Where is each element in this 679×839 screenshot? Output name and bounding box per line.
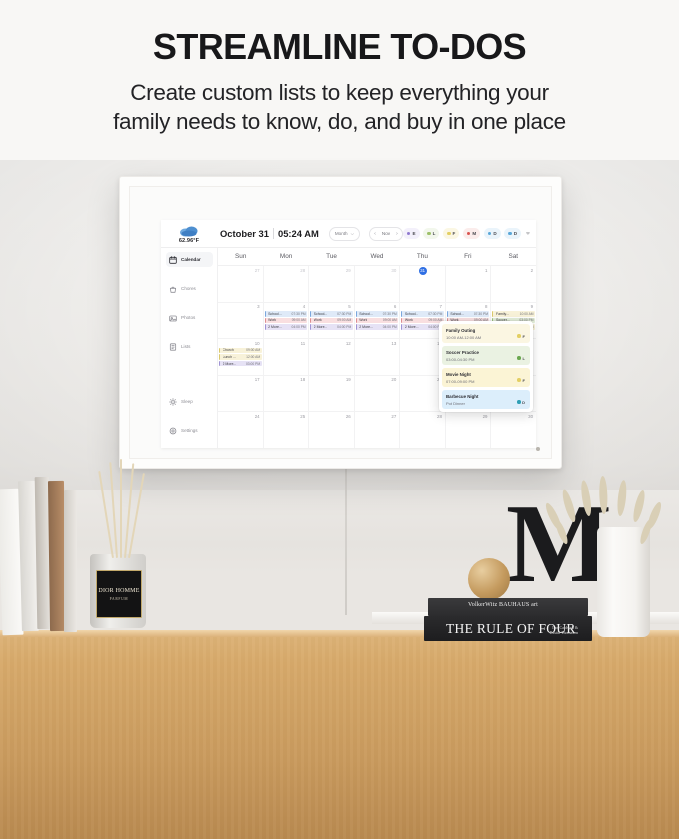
calendar-event[interactable]: School...07:30 PM <box>310 311 353 317</box>
calendar-day-cell[interactable]: 12 <box>309 339 355 375</box>
event-panel-badge: D <box>517 400 525 405</box>
view-selector-dropdown[interactable]: Month ⌵ <box>329 227 360 241</box>
calendar-day-number: 28 <box>300 268 305 273</box>
calendar-day-number: 2 <box>531 268 533 273</box>
calendar-day-cell[interactable]: 27 <box>355 412 401 448</box>
calendar-day-cell[interactable]: 24 <box>218 412 264 448</box>
day-header-tue: Tue <box>309 248 354 265</box>
calendar-day-cell[interactable]: 19 <box>309 376 355 412</box>
event-owner-dot-icon <box>517 378 521 382</box>
event-panel-subtitle: 10:00 AM-12:00 AM <box>446 335 526 340</box>
calendar-day-number: 20 <box>391 377 396 382</box>
sidebar-spacer <box>161 368 217 394</box>
smart-display-frame: 62.96°F October 31 05:24 AM Month ⌵ ‹ No… <box>119 176 562 469</box>
member-color-dot-icon <box>467 232 471 236</box>
calendar-day-cell[interactable]: 10Church09:00 AMLunch ...12:00 AM2 More.… <box>218 339 264 375</box>
calendar-event[interactable]: School...07:30 PM <box>401 311 444 317</box>
event-owner-initial: D <box>522 400 525 405</box>
sidebar-item-label: Sleep <box>181 399 193 404</box>
calendar-day-number: 18 <box>300 377 305 382</box>
member-chip-label: D <box>493 231 496 236</box>
book-rule-of-four-authors: Lan Caldwell &Dustin Thomason <box>550 625 578 636</box>
member-chip-e-0[interactable]: E <box>403 228 420 239</box>
calendar-day-cell[interactable]: 29 <box>309 266 355 302</box>
current-time: 05:24 AM <box>278 228 319 239</box>
calendar-day-cell[interactable]: 28 <box>400 412 446 448</box>
promo-subtitle-line-1: Create custom lists to keep everything y… <box>130 80 549 105</box>
desk-grain <box>0 637 679 839</box>
day-header-fri: Fri <box>445 248 490 265</box>
day-event-list: School...07:30 PMWork09:00 AM2 More...04… <box>356 311 399 331</box>
sidebar-item-settings[interactable]: Settings <box>166 423 213 438</box>
chores-basket-icon <box>169 285 177 293</box>
calendar-app-screen[interactable]: 62.96°F October 31 05:24 AM Month ⌵ ‹ No… <box>161 220 536 448</box>
member-chip-label: F <box>453 231 456 236</box>
event-title: School... <box>359 312 373 316</box>
sidebar-item-photos[interactable]: Photos <box>166 310 213 325</box>
calendar-day-number: 17 <box>255 377 260 382</box>
calendar-day-number: 8 <box>485 304 487 309</box>
calendar-event[interactable]: School...07:30 PM <box>265 311 308 317</box>
day-event-list: Church09:00 AMLunch ...12:00 AM2 More...… <box>219 348 262 368</box>
event-title: School... <box>268 312 282 316</box>
power-led-icon <box>536 447 540 451</box>
weather-widget[interactable]: 62.96°F <box>161 223 217 244</box>
member-chip-f-2[interactable]: F <box>443 228 459 239</box>
sidebar-item-sleep[interactable]: Sleep <box>166 394 213 409</box>
datetime-divider <box>273 228 274 239</box>
day-header-sat: Sat <box>491 248 536 265</box>
calendar-event[interactable]: Work09:00 AM <box>310 318 353 324</box>
event-time: 07:30 PM <box>337 312 351 316</box>
app-body: CalendarChoresPhotosListsSleepSettings S… <box>161 248 536 448</box>
calendar-day-number: 24 <box>255 414 260 419</box>
member-chip-label: L <box>433 231 436 236</box>
event-panel-subtitle: Pot Dinner <box>446 401 526 406</box>
calendar-day-number: 25 <box>300 414 305 419</box>
calendar-day-number: 10 <box>255 341 260 346</box>
event-title: Work <box>268 318 276 322</box>
event-time: 04:00 PM <box>337 325 351 329</box>
event-time: 09:00 AM <box>292 318 306 322</box>
promo-header: STREAMLINE TO-DOS Create custom lists to… <box>0 0 679 160</box>
calendar-day-number: 29 <box>483 414 488 419</box>
calendar-day-number: 29 <box>346 268 351 273</box>
event-time: 10:00 AM <box>520 312 534 316</box>
calendar-day-number: 26 <box>346 414 351 419</box>
diffuser-brand: DIOR HOMME <box>98 588 139 594</box>
member-color-dot-icon <box>447 232 451 236</box>
book-spine <box>64 490 77 632</box>
event-time: 09:00 AM <box>246 348 260 352</box>
calendar-day-cell[interactable]: 4School...07:30 PMWork09:00 AM2 More...0… <box>264 303 310 339</box>
day-header-mon: Mon <box>263 248 308 265</box>
event-panel-badge: L <box>517 356 525 361</box>
temperature-value: 62.96°F <box>179 238 199 244</box>
calendar-day-cell[interactable]: 28 <box>264 266 310 302</box>
calendar-day-cell[interactable]: 30 <box>355 266 401 302</box>
event-owner-dot-icon <box>517 356 521 360</box>
calendar-event[interactable]: 2 More...04:00 PM <box>356 324 399 330</box>
event-title: Work <box>405 318 413 322</box>
calendar-week-5: 24252627282930 <box>218 412 536 448</box>
event-panel-title: Family Outing <box>446 328 526 333</box>
calendar-day-cell[interactable]: 5School...07:30 PMWork09:00 AM2 More...0… <box>309 303 355 339</box>
sidebar-item-calendar[interactable]: Calendar <box>166 252 213 267</box>
event-panel-badge: F <box>517 334 525 339</box>
event-panel-card[interactable]: Family Outing10:00 AM-12:00 AMF <box>442 324 530 343</box>
calendar-day-number: 27 <box>391 414 396 419</box>
calendar-day-number: 19 <box>346 377 351 382</box>
event-title: Lunch ... <box>223 355 236 359</box>
event-title: Work <box>314 318 322 322</box>
event-panel-card[interactable]: Soccer Practice03:00-04:30 PML <box>442 346 530 365</box>
sidebar-item-label: Photos <box>181 315 195 320</box>
diffuser-subtitle: PARFUM <box>110 597 129 601</box>
day-of-week-header: SunMonTueWedThuFriSat <box>218 248 536 266</box>
sidebar-item-lists[interactable]: Lists <box>166 339 213 354</box>
member-chip-label: D <box>514 231 517 236</box>
calendar-day-cell[interactable]: 29 <box>446 412 492 448</box>
diffuser-label: DIOR HOMME PARFUM <box>96 570 142 618</box>
calendar-day-cell[interactable]: 6School...07:30 PMWork09:00 AM2 More...0… <box>355 303 401 339</box>
member-color-dot-icon <box>407 232 411 236</box>
calendar-event[interactable]: Work09:00 AM <box>265 318 308 324</box>
calendar-event[interactable]: 2 More...04:00 PM <box>265 324 308 330</box>
day-header-wed: Wed <box>354 248 399 265</box>
current-month-label: Nov <box>382 231 390 236</box>
event-title: Church <box>223 348 234 352</box>
settings-gear-icon <box>169 427 177 435</box>
calendar-day-number: 31 <box>419 267 427 275</box>
event-time: 07:30 PM <box>292 312 306 316</box>
calendar-day-cell[interactable]: 13 <box>355 339 401 375</box>
calendar-day-cell[interactable]: 18 <box>264 376 310 412</box>
member-color-dot-icon <box>427 232 431 236</box>
calendar-day-number: 12 <box>346 341 351 346</box>
calendar-view[interactable]: SunMonTueWedThuFriSat 27282930311234Scho… <box>218 248 536 448</box>
event-title: School... <box>450 312 464 316</box>
member-chip-label: E <box>412 231 415 236</box>
sidebar-item-label: Settings <box>181 428 198 433</box>
app-topbar: 62.96°F October 31 05:24 AM Month ⌵ ‹ No… <box>161 220 536 248</box>
event-owner-initial: F <box>523 378 525 383</box>
month-navigation[interactable]: ‹ Nov › <box>369 227 403 241</box>
view-selector-label: Month <box>335 231 348 236</box>
page-title: STREAMLINE TO-DOS <box>0 0 679 65</box>
event-time: 12:00 AM <box>246 355 260 359</box>
member-filter-chips: ELFMDD <box>403 228 521 239</box>
calendar-event[interactable]: 2 More...04:00 PM <box>310 324 353 330</box>
member-chip-d-4[interactable]: D <box>484 228 501 239</box>
calendar-icon <box>169 256 177 264</box>
datetime-display: October 31 05:24 AM <box>220 228 319 239</box>
calendar-day-cell[interactable]: 17 <box>218 376 264 412</box>
calendar-day-number: 4 <box>303 304 305 309</box>
event-owner-dot-icon <box>517 400 521 404</box>
next-month-arrow-icon[interactable]: › <box>396 231 398 237</box>
member-color-dot-icon <box>508 232 512 236</box>
sidebar-item-label: Lists <box>181 344 190 349</box>
decor-sphere <box>468 558 510 600</box>
calendar-day-number: 28 <box>437 414 442 419</box>
calendar-day-number: 9 <box>531 304 533 309</box>
day-event-list: School...07:30 PMWork09:00 AM2 More...04… <box>401 311 444 331</box>
event-detail-panel[interactable]: Family Outing10:00 AM-12:00 AMFSoccer Pr… <box>439 321 533 412</box>
book-volkerwitz-title: VolkerWitz BAUHAUS art <box>468 602 538 608</box>
member-chip-l-1[interactable]: L <box>423 228 439 239</box>
event-title: Work <box>359 318 367 322</box>
event-panel-badge: F <box>517 378 525 383</box>
promo-subtitle: Create custom lists to keep everything y… <box>0 65 679 137</box>
event-time: 09:00 AM <box>383 318 397 322</box>
calendar-day-cell[interactable]: 26 <box>309 412 355 448</box>
wifi-icon[interactable] <box>526 230 530 237</box>
current-date: October 31 <box>220 228 269 239</box>
calendar-day-cell[interactable]: 30 <box>491 412 536 448</box>
calendar-day-cell[interactable]: 31 <box>400 266 446 302</box>
calendar-day-cell[interactable]: 3 <box>218 303 264 339</box>
member-chip-m-3[interactable]: M <box>463 228 480 239</box>
calendar-day-number: 3 <box>257 304 259 309</box>
calendar-event[interactable]: Lunch ...12:00 AM <box>219 354 262 360</box>
sidebar-item-label: Chores <box>181 286 196 291</box>
event-title: 2 More... <box>359 325 373 329</box>
calendar-day-cell[interactable]: 27 <box>218 266 264 302</box>
event-time: 07:30 PM <box>474 312 488 316</box>
event-time: 04:00 PM <box>292 325 306 329</box>
calendar-day-number: 7 <box>439 304 441 309</box>
event-panel-card[interactable]: Movie Night07:00-09:00 PMF <box>442 368 530 387</box>
event-title: 2 More... <box>405 325 419 329</box>
event-time: 09:00 AM <box>337 318 351 322</box>
photos-icon <box>169 314 177 322</box>
prev-month-arrow-icon[interactable]: ‹ <box>374 231 376 237</box>
sidebar-item-chores[interactable]: Chores <box>166 281 213 296</box>
calendar-day-cell[interactable]: 2 <box>491 266 536 302</box>
calendar-day-number: 13 <box>391 341 396 346</box>
calendar-day-number: 27 <box>255 268 260 273</box>
display-cable <box>345 460 347 615</box>
event-panel-card[interactable]: Barbecue NightPot DinnerD <box>442 390 530 409</box>
calendar-day-cell[interactable]: 1 <box>446 266 492 302</box>
event-title: 2 More... <box>314 325 328 329</box>
event-title: 2 More... <box>223 362 237 366</box>
calendar-day-cell[interactable]: 25 <box>264 412 310 448</box>
sleep-sun-icon <box>169 398 177 406</box>
calendar-event[interactable]: 2 More...04:00 PM <box>401 324 444 330</box>
book-volkerwitz: VolkerWitz BAUHAUS art <box>428 598 588 616</box>
app-sidebar: CalendarChoresPhotosListsSleepSettings <box>161 248 218 448</box>
calendar-week-1: 272829303112 <box>218 266 536 303</box>
frame-matte: 62.96°F October 31 05:24 AM Month ⌵ ‹ No… <box>129 186 552 459</box>
calendar-event[interactable]: Work09:00 AM <box>401 318 444 324</box>
calendar-event[interactable]: 2 More...03:00 PM <box>219 361 262 367</box>
calendar-day-number: 5 <box>348 304 350 309</box>
reed-diffuser: DIOR HOMME PARFUM <box>90 554 146 628</box>
promo-subtitle-line-2: family needs to know, do, and buy in one… <box>113 109 566 134</box>
event-time: 07:30 PM <box>428 312 442 316</box>
member-color-dot-icon <box>488 232 492 236</box>
calendar-day-cell[interactable]: 11 <box>264 339 310 375</box>
day-event-list: School...07:30 PMWork09:00 AM2 More...04… <box>310 311 353 331</box>
event-panel-title: Movie Night <box>446 372 526 377</box>
calendar-day-number: 6 <box>394 304 396 309</box>
event-title: School... <box>314 312 328 316</box>
day-event-list: School...07:30 PMWork09:00 AM2 More...04… <box>265 311 308 331</box>
event-owner-initial: L <box>523 356 525 361</box>
event-panel-subtitle: 03:00-04:30 PM <box>446 357 526 362</box>
calendar-day-cell[interactable]: 20 <box>355 376 401 412</box>
calendar-day-number: 30 <box>391 268 396 273</box>
chevron-down-icon: ⌵ <box>351 231 354 236</box>
event-panel-title: Soccer Practice <box>446 350 526 355</box>
event-title: School... <box>405 312 419 316</box>
event-owner-dot-icon <box>517 334 521 338</box>
calendar-event[interactable]: Family...10:00 AM <box>492 311 535 317</box>
calendar-event[interactable]: School...07:30 PM <box>447 311 490 317</box>
calendar-event[interactable]: Work09:00 AM <box>356 318 399 324</box>
event-title: 2 More... <box>268 325 282 329</box>
event-title: Family... <box>496 312 509 316</box>
member-chip-label: M <box>472 231 476 236</box>
event-panel-subtitle: 07:00-09:00 PM <box>446 379 526 384</box>
day-header-sun: Sun <box>218 248 263 265</box>
calendar-day-number: 1 <box>485 268 487 273</box>
calendar-event[interactable]: School...07:30 PM <box>356 311 399 317</box>
book-rule-of-four: THE RULE OF FOUR Lan Caldwell &Dustin Th… <box>424 616 592 641</box>
member-chip-d-5[interactable]: D <box>504 228 521 239</box>
calendar-day-number: 11 <box>301 341 306 346</box>
event-owner-initial: F <box>523 334 525 339</box>
event-time: 03:00 PM <box>246 362 260 366</box>
event-panel-title: Barbecue Night <box>446 394 526 399</box>
lists-icon <box>169 343 177 351</box>
event-time: 07:30 PM <box>383 312 397 316</box>
calendar-day-number: 30 <box>528 414 533 419</box>
sidebar-item-label: Calendar <box>181 257 201 262</box>
cloud-icon <box>179 225 199 237</box>
event-time: 04:00 PM <box>383 325 397 329</box>
calendar-event[interactable]: Church09:00 AM <box>219 348 262 354</box>
day-header-thu: Thu <box>400 248 445 265</box>
